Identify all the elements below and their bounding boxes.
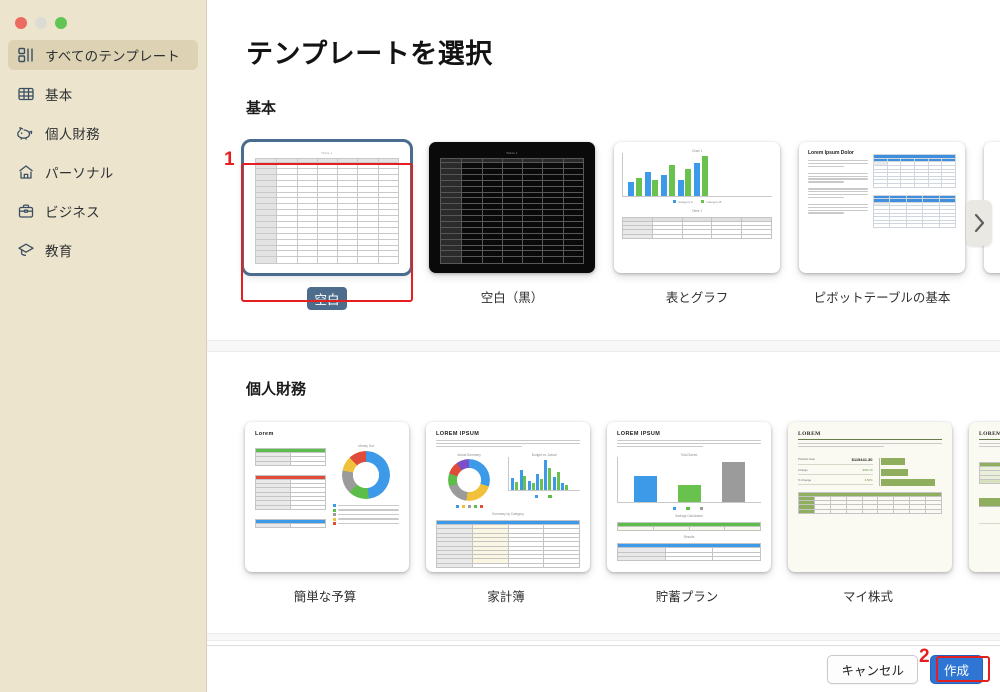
budget-art: Lorem — [245, 422, 409, 537]
sidebar: すべてのテンプレート 基本 — [0, 0, 207, 692]
savings-calculation-table — [617, 522, 761, 531]
template-card-chart-table[interactable]: Chart 1 Category A — [613, 140, 781, 306]
networth-heading: LOREM IPSUM: DOLOR — [979, 431, 1000, 440]
thumbnail-wrap: LOREM IPSUM Total Saved — [605, 421, 773, 573]
mini-table — [622, 217, 772, 239]
thumbnail-wrap: Table 1 — [243, 140, 411, 274]
stocks-portfolio-value: $115441.30 — [852, 457, 873, 462]
sheet-table-caption: Table 1 — [440, 151, 584, 155]
template-card-my-stocks[interactable]: LOREM Portfolio Gain $115441.30 — [786, 421, 950, 605]
thumbnail-pivot: Lorem Ipsum Dolor — [799, 142, 965, 273]
stocks-heading: LOREM — [798, 431, 942, 440]
stocks-hbar-chart — [879, 454, 942, 486]
template-card-label: ピボットテーブルの基本 — [814, 291, 951, 305]
thumbnail-wrap: Table 1 — [428, 140, 596, 274]
thumbnail-net-worth: LOREM IPSUM: DOLOR Total Assets — [969, 422, 1000, 572]
template-card-blank-black[interactable]: Table 1 — [428, 140, 596, 306]
template-card-label: 空白 — [307, 287, 346, 310]
budget-income-table — [255, 448, 326, 466]
zoom-button[interactable] — [55, 17, 67, 29]
budget-chart-title: Money Out — [358, 444, 374, 448]
savings-heading: LOREM IPSUM — [617, 431, 761, 437]
template-card-label-wrap: 空白 — [243, 287, 411, 310]
thumbnail-household-ledger: LOREM IPSUM Actual Summary — [426, 422, 590, 572]
ledger-art: LOREM IPSUM Actual Summary — [426, 422, 590, 572]
template-card-household-ledger[interactable]: LOREM IPSUM Actual Summary — [424, 421, 588, 605]
template-card-label: 家計簿 — [487, 590, 525, 604]
template-card-savings-plan[interactable]: LOREM IPSUM Total Saved — [605, 421, 769, 605]
thumbnail-blank: Table 1 — [244, 142, 410, 273]
networth-art: LOREM IPSUM: DOLOR Total Assets — [969, 422, 1000, 538]
legend-entry-a: Category A — [673, 200, 693, 204]
table-caption: Table 1 — [622, 209, 772, 213]
template-card-net-worth[interactable]: LOREM IPSUM: DOLOR Total Assets — [967, 421, 1000, 605]
template-card-label-wrap: 正味資 — [967, 586, 1000, 605]
thumbnail-wrap: LOREM Portfolio Gain $115441.30 — [786, 421, 954, 573]
sidebar-item-business[interactable]: ビジネス — [8, 196, 198, 226]
cancel-button[interactable]: キャンセル — [827, 655, 918, 684]
chevron-right-icon — [973, 213, 986, 233]
all-templates-icon — [16, 46, 35, 65]
annotation-number-1: 1 — [224, 149, 235, 171]
budget-summary-table — [255, 519, 326, 528]
template-card-label: 表とグラフ — [666, 291, 729, 305]
sheet-grid — [440, 158, 584, 264]
template-browser: テンプレートを選択 基本 Table 1 — [207, 0, 1000, 692]
sidebar-item-label: 教育 — [45, 240, 72, 260]
thumbnail-wrap: LOREM IPSUM Actual Summary — [424, 421, 592, 573]
template-card-label-wrap: 簡単な予算 — [243, 586, 407, 605]
networth-table-title: Total Assets — [979, 454, 1000, 458]
chart-table-art: Chart 1 Category A — [614, 142, 780, 273]
savings-bar-chart — [617, 457, 761, 503]
section-basic: 基本 Table 1 — [207, 71, 1000, 340]
section-divider-band — [207, 340, 1000, 352]
sidebar-item-label: ビジネス — [45, 201, 100, 221]
template-card-label: 空白（黒） — [481, 291, 544, 305]
template-chooser-window: すべてのテンプレート 基本 — [0, 0, 1000, 692]
budget-donut-chart — [342, 451, 390, 499]
thumbnail-wrap: Lorem Ipsum Dolor — [798, 140, 966, 274]
stocks-art: LOREM Portfolio Gain $115441.30 — [788, 422, 952, 523]
sidebar-item-label: 基本 — [45, 84, 72, 104]
create-button-wrap: 作成 — [930, 655, 983, 684]
stocks-pct-label: % Change — [798, 478, 811, 482]
sidebar-item-all-templates[interactable]: すべてのテンプレート — [8, 40, 198, 70]
template-card-label: マイ株式 — [843, 590, 893, 604]
sheet-grid — [255, 158, 399, 264]
section-title: 個人財務 — [207, 352, 1000, 399]
scroll-next-button[interactable] — [966, 200, 992, 246]
sidebar-item-personal[interactable]: パーソナル — [8, 157, 198, 187]
close-button[interactable] — [15, 17, 27, 29]
template-card-label-wrap: ピボットテーブルの基本 — [798, 287, 966, 306]
chart-legend: Category A Category B — [622, 200, 772, 204]
savings-results-title: Results — [617, 535, 761, 539]
thumbnail-simple-budget: Lorem — [245, 422, 409, 572]
pivot-heading: Lorem Ipsum Dolor — [808, 150, 868, 158]
sheet-table-caption: Table 1 — [255, 151, 399, 155]
ledger-heading: LOREM IPSUM — [436, 431, 580, 437]
sidebar-item-basic[interactable]: 基本 — [8, 79, 198, 109]
graduation-cap-icon — [16, 241, 35, 260]
window-traffic-lights — [0, 0, 206, 34]
savings-results-table — [617, 543, 761, 561]
pivot-table-1 — [873, 154, 956, 187]
ledger-chart-title: Actual Summary — [457, 453, 480, 457]
minimize-button[interactable] — [35, 17, 47, 29]
budget-heading: Lorem — [255, 431, 399, 437]
sidebar-item-personal-finance[interactable]: 個人財務 — [8, 118, 198, 148]
pivot-table-2 — [873, 195, 956, 228]
stocks-pct-value: 3.50% — [865, 478, 873, 482]
template-card-label-wrap: マイ株式 — [786, 586, 950, 605]
thumbnail-wrap: Chart 1 Category A — [613, 140, 781, 274]
template-card-label: 貯蓄プラン — [656, 590, 719, 604]
sidebar-item-education[interactable]: 教育 — [8, 235, 198, 265]
template-card-simple-budget[interactable]: Lorem — [243, 421, 407, 605]
sidebar-list: すべてのテンプレート 基本 — [0, 40, 206, 265]
budget-expense-table — [255, 475, 326, 510]
thumbnail-my-stocks: LOREM Portfolio Gain $115441.30 — [788, 422, 952, 572]
ledger-table — [436, 520, 580, 568]
annotation-number-2: 2 — [919, 646, 930, 668]
thumbnail-blank-black: Table 1 — [429, 142, 595, 273]
thumbnail-savings-plan: LOREM IPSUM Total Saved — [607, 422, 771, 572]
section-divider-band — [207, 633, 1000, 641]
ledger-bar-chart — [508, 457, 580, 491]
stocks-change-label: Change — [798, 468, 808, 472]
template-card-label-wrap: 空白（黒） — [428, 287, 596, 306]
blank-sheet-dark-art: Table 1 — [429, 142, 595, 273]
networth-stacked-bar — [979, 498, 1000, 507]
template-card-label-wrap: 貯蓄プラン — [605, 586, 769, 605]
stocks-table — [798, 492, 942, 514]
stocks-change-value: $393.30 — [862, 468, 872, 472]
thumbnail-wrap: Lorem — [243, 421, 411, 573]
section-personal-finance: 個人財務 Lorem — [207, 352, 1000, 633]
blank-sheet-art: Table 1 — [244, 142, 410, 273]
savings-art: LOREM IPSUM Total Saved — [607, 422, 771, 570]
template-card-blank[interactable]: Table 1 — [243, 140, 411, 310]
template-row: Table 1 — [207, 118, 1000, 310]
briefcase-icon — [16, 202, 35, 221]
sidebar-item-label: パーソナル — [45, 162, 114, 182]
dialog-footer: キャンセル 作成 — [207, 645, 1000, 692]
networth-table — [979, 462, 1000, 484]
home-icon — [16, 163, 35, 182]
template-scroll-area[interactable]: テンプレートを選択 基本 Table 1 — [207, 0, 1000, 645]
savings-table-title: Savings Calculation — [617, 514, 761, 518]
stocks-portfolio-label: Portfolio Gain — [798, 457, 815, 462]
sidebar-item-label: 個人財務 — [45, 123, 100, 143]
template-card-pivot[interactable]: Lorem Ipsum Dolor — [798, 140, 966, 306]
template-card-label-wrap: 表とグラフ — [613, 287, 781, 306]
section-title: 基本 — [207, 71, 1000, 118]
sidebar-item-label: すべてのテンプレート — [45, 45, 180, 65]
template-card-label: 簡単な予算 — [294, 590, 357, 604]
page-title: テンプレートを選択 — [207, 0, 1000, 71]
table-grid-icon — [16, 85, 35, 104]
thumbnail-wrap: LOREM IPSUM: DOLOR Total Assets — [967, 421, 1000, 573]
ledger-table-title: Summary by Category — [436, 512, 580, 516]
template-card-label-wrap: 家計簿 — [424, 586, 588, 605]
mini-bar-chart — [622, 153, 772, 197]
ledger-donut-chart — [448, 459, 490, 501]
create-button[interactable]: 作成 — [930, 655, 983, 684]
pivot-doc-art: Lorem Ipsum Dolor — [799, 142, 965, 236]
template-row: Lorem — [207, 399, 1000, 605]
thumbnail-chart-table: Chart 1 Category A — [614, 142, 780, 273]
piggy-bank-icon — [16, 124, 35, 143]
legend-entry-b: Category B — [701, 200, 722, 204]
